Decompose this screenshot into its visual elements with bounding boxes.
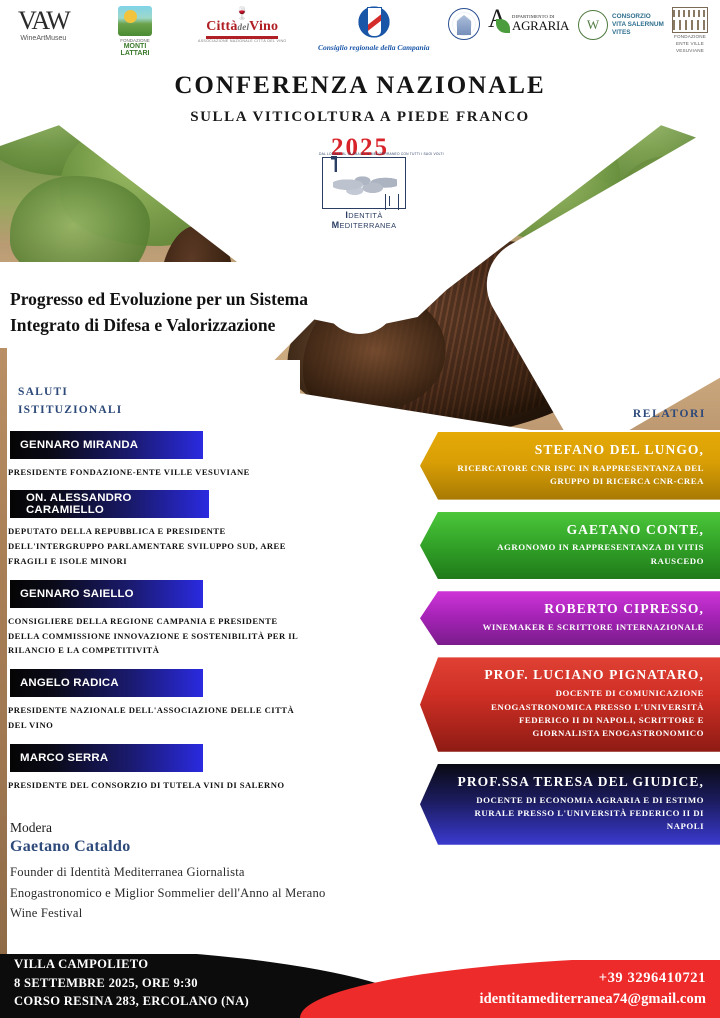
ville-vesuviane-line2: ENTE VILLE <box>676 41 704 47</box>
ville-vesuviane-line3: VESUVIANE <box>676 48 704 54</box>
citta-del-vino-wordmark: CittàdelVino <box>206 19 278 35</box>
logo-fondazione-ente-ville-vesuviane: FONDAZIONE ENTE VILLE VESUVIANE <box>672 7 708 54</box>
relatore-banner: PROF.SSA TERESA DEL GIUDICE, DOCENTE DI … <box>420 764 720 845</box>
consorzio-text: CONSORZIO VITA SALERNUM VITES <box>612 13 664 37</box>
saluti-heading: SALUTI ISTITUZIONALI <box>0 384 340 420</box>
relatore-banner: PROF. LUCIANO PIGNATARO, DOCENTE DI COMU… <box>420 657 720 751</box>
relatore-role: DOCENTE DI ECONOMIA AGRARIA E DI ESTIMO … <box>454 794 704 834</box>
identita-tagline: DAL LOCALE AL GLOBALE: IL MEDITERRANEO C… <box>319 152 409 156</box>
monti-lattari-line3: LATTARI <box>121 50 150 57</box>
monti-lattari-line2: MONTI <box>124 43 147 50</box>
poster-root: VAW WineArtMuseu FONDAZIONE MONTI LATTAR… <box>0 0 720 1018</box>
vaw-monogram: VAW <box>18 8 69 34</box>
agraria-line2: AGRARIA <box>512 19 569 32</box>
agraria-leaf <box>496 19 510 33</box>
identita-editerranea: EDITERRANEA <box>339 221 396 230</box>
cdv-word-del: del <box>238 22 250 32</box>
cdv-word-citta: Città <box>206 19 237 34</box>
university-seal-icon <box>448 8 480 40</box>
speaker-name: ANGELO RADICA <box>10 677 119 689</box>
moderator-name: Gaetano Cataldo <box>10 838 330 856</box>
speaker-role: PRESIDENTE NAZIONALE DELL'ASSOCIAZIONE D… <box>8 703 308 733</box>
relatore-name: PROF.SSA TERESA DEL GIUDICE, <box>454 774 704 791</box>
agraria-text: DIPARTIMENTO DI AGRARIA <box>512 14 569 32</box>
speaker-name-bar: ON. ALESSANDRO CARAMIELLO <box>10 490 209 518</box>
footer-bar: VILLA CAMPOLIETO 8 SETTEMBRE 2025, ORE 9… <box>0 954 720 1018</box>
moderator-bio: Founder di Identità Mediterranea Giornal… <box>10 862 330 923</box>
relatore-role: DOCENTE DI COMUNICAZIONE ENOGASTRONOMICA… <box>454 687 704 740</box>
wine-glass-icon: 🍷 <box>235 7 250 19</box>
logo-universita-federico-ii <box>448 8 480 40</box>
logo-dipartimento-agraria: DIPARTIMENTO DI AGRARIA <box>488 10 569 36</box>
speaker-name: GENNARO MIRANDA <box>10 439 138 451</box>
speaker-name: MARCO SERRA <box>10 752 108 764</box>
cdv-word-vino: Vino <box>249 19 278 34</box>
identita-frame <box>322 157 406 209</box>
relatore-role: AGRONOMO IN RAPPRESENTANZA DI VITIS RAUS… <box>454 541 704 568</box>
conference-subtitle-topic: SULLA VITICOLTURA A PIEDE FRANCO <box>0 109 720 126</box>
vaw-caption: WineArtMuseu <box>20 35 66 42</box>
sponsor-logo-bar: VAW WineArtMuseu FONDAZIONE MONTI LATTAR… <box>0 0 720 58</box>
relatore-banner: GAETANO CONTE, AGRONOMO IN RAPPRESENTANZ… <box>420 512 720 580</box>
logo-wine-art-museum: VAW WineArtMuseu <box>18 8 69 42</box>
venue-name: VILLA CAMPOLIETO <box>14 955 249 973</box>
speaker-name-bar: ANGELO RADICA <box>10 669 203 697</box>
villa-building-icon <box>672 7 708 33</box>
venue-info: VILLA CAMPOLIETO 8 SETTEMBRE 2025, ORE 9… <box>14 955 249 1010</box>
campania-emblem-icon <box>347 2 401 42</box>
speaker-role: PRESIDENTE DEL CONSORZIO DI TUTELA VINI … <box>8 778 308 793</box>
speaker-role: PRESIDENTE FONDAZIONE-ENTE VILLE VESUVIA… <box>8 465 308 480</box>
moderator-block: Modera Gaetano Cataldo Founder di Identi… <box>10 820 330 923</box>
speaker-name-bar: MARCO SERRA <box>10 744 203 772</box>
relatore-banner: ROBERTO CIPRESSO, WINEMAKER E SCRITTORE … <box>420 591 720 645</box>
relatore-name: GAETANO CONTE, <box>454 522 704 539</box>
logo-fondazione-monti-lattari: FONDAZIONE MONTI LATTARI <box>118 6 152 57</box>
speaker-role: CONSIGLIERE DELLA REGIONE CAMPANIA E PRE… <box>8 614 308 658</box>
cdv-tiny-caption: ASSOCIAZIONE NAZIONALE CITTÀ DEL VINO <box>198 39 286 43</box>
relatori-heading: RELATORI <box>420 408 720 420</box>
relatore-name: ROBERTO CIPRESSO, <box>454 601 704 618</box>
campania-shield <box>367 7 382 37</box>
consorzio-line3: VITES <box>612 29 664 37</box>
saluti-heading-line2: ISTITUZIONALI <box>18 402 340 420</box>
relatori-column: RELATORI STEFANO DEL LUNGO, RICERCATORE … <box>420 408 720 845</box>
speaker-name-bar: GENNARO MIRANDA <box>10 431 203 459</box>
logo-consiglio-regionale-campania: Consiglio regionale della Campania <box>318 2 429 52</box>
relatore-name: STEFANO DEL LUNGO, <box>454 442 704 459</box>
moderator-label: Modera <box>10 820 330 836</box>
poster-subtitle: Progresso ed Evoluzione per un Sistema I… <box>10 286 350 339</box>
agraria-a-leaf-icon <box>488 10 510 36</box>
speaker-role: DEPUTATO DELLA REPUBBLICA E PRESIDENTE D… <box>8 524 308 568</box>
logo-citta-del-vino: 🍷 CittàdelVino ASSOCIAZIONE NAZIONALE CI… <box>198 7 286 43</box>
speaker-name: ON. ALESSANDRO CARAMIELLO <box>10 492 209 516</box>
monti-lattari-emblem-icon <box>118 6 152 36</box>
relatore-role: RICERCATORE CNR ISPC IN RAPPRESENTANZA D… <box>454 462 704 489</box>
consorzio-line2: VITA SALERNUM <box>612 21 664 29</box>
contact-email[interactable]: identitamediterranea74@gmail.com <box>480 989 706 1010</box>
consorzio-line1: CONSORZIO <box>612 13 664 21</box>
venue-datetime: 8 SETTEMBRE 2025, ORE 9:30 <box>14 974 249 992</box>
title-block: CONFERENZA NAZIONALE SULLA VITICOLTURA A… <box>0 72 720 162</box>
venue-address: CORSO RESINA 283, ERCOLANO (NA) <box>14 992 249 1010</box>
logo-identita-mediterranea: DAL LOCALE AL GLOBALE: IL MEDITERRANEO C… <box>319 152 409 222</box>
consorzio-ring-icon: W <box>578 10 608 40</box>
speaker-name-bar: GENNARO SAIELLO <box>10 580 203 608</box>
relatore-banner: STEFANO DEL LUNGO, RICERCATORE CNR ISPC … <box>420 432 720 500</box>
conference-title: CONFERENZA NAZIONALE <box>0 72 720 100</box>
consiglio-regionale-caption: Consiglio regionale della Campania <box>318 43 429 52</box>
saluti-istituzionali-column: SALUTI ISTITUZIONALI GENNARO MIRANDA PRE… <box>0 384 340 924</box>
relatore-role: WINEMAKER E SCRITTORE INTERNAZIONALE <box>454 621 704 634</box>
identita-wordmark: IDENTITÀ MEDITERRANEA <box>319 210 409 230</box>
speaker-name: GENNARO SAIELLO <box>10 588 134 600</box>
logo-consorzio-vita-salernum-vites: W CONSORZIO VITA SALERNUM VITES <box>578 10 664 40</box>
relatore-name: PROF. LUCIANO PIGNATARO, <box>454 667 704 684</box>
contact-phone[interactable]: +39 3296410721 <box>480 968 706 989</box>
ville-vesuviane-line1: FONDAZIONE <box>674 34 706 40</box>
identita-notch-right <box>385 194 399 210</box>
saluti-heading-line1: SALUTI <box>18 384 340 402</box>
identita-dentita: DENTITÀ <box>348 211 382 220</box>
contact-info: +39 3296410721 identitamediterranea74@gm… <box>480 968 706 1010</box>
